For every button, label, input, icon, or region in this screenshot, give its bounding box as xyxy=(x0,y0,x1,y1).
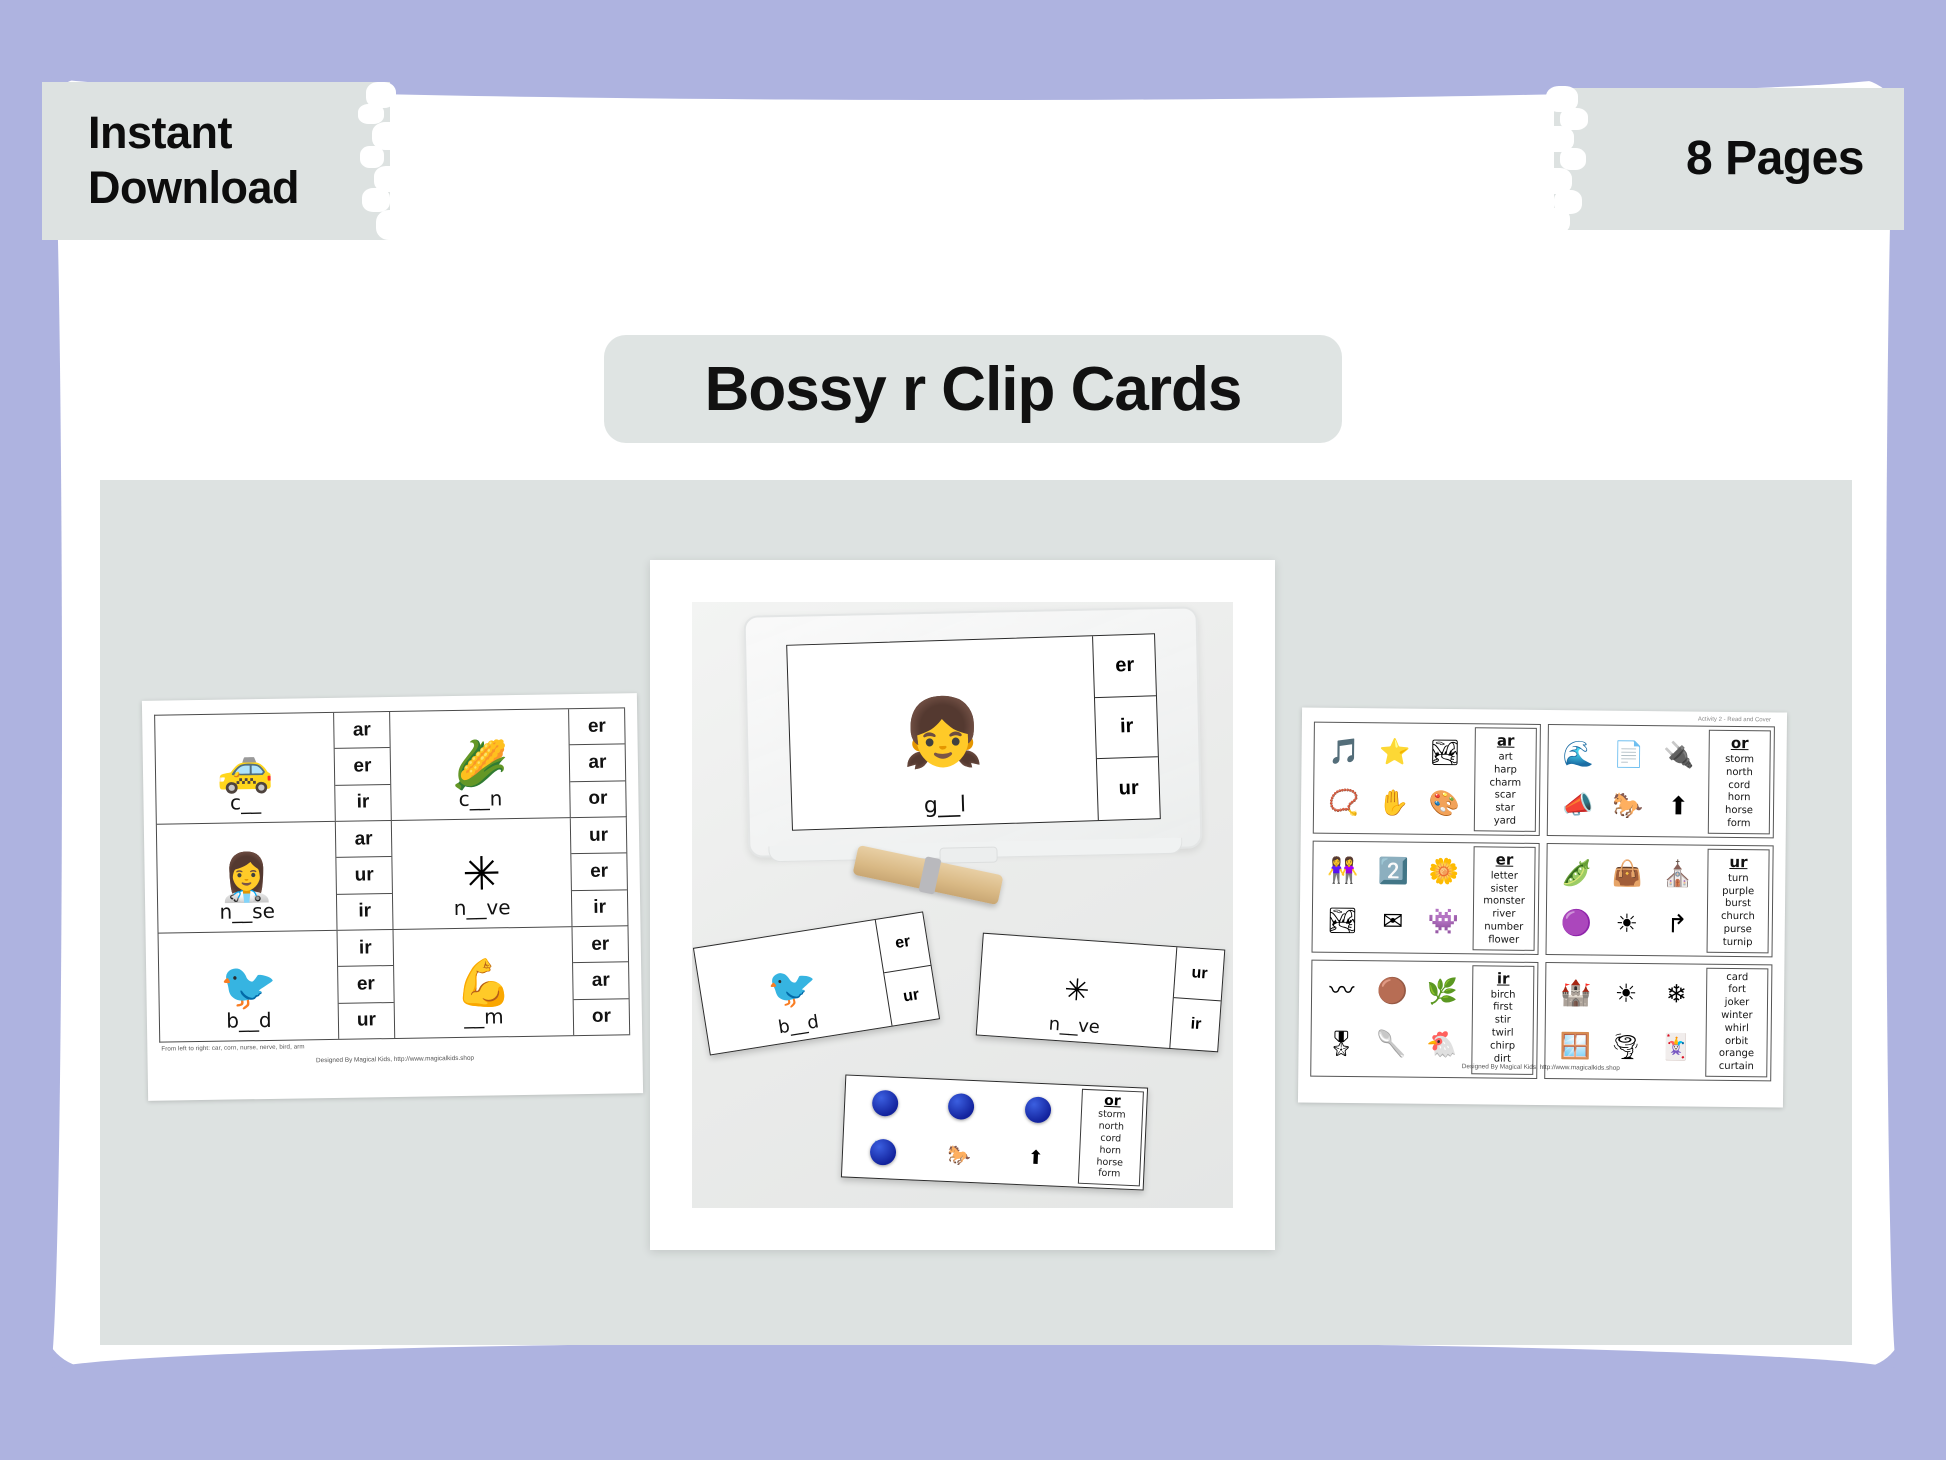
clip-card-option[interactable]: ir xyxy=(572,890,628,926)
read-cover-images: 🌊📄🔌📣🐎⬆ xyxy=(1551,728,1706,833)
read-cover-images: 🏰☀❄🪟🌪🃏 xyxy=(1548,966,1703,1077)
poster-canvas: Instant Download 8 Pages Bossy r Clip Ca… xyxy=(0,0,1946,1460)
loose-card-nerve: ✳ n__ve urir xyxy=(975,933,1225,1053)
arm-icon: 💪 xyxy=(454,955,512,1011)
word-item: joker xyxy=(1725,997,1750,1010)
clip-card-cell: 🌽c__neraror xyxy=(390,708,627,821)
word-item: twirl xyxy=(1492,1027,1514,1040)
word-item: turn xyxy=(1728,873,1749,886)
picture-icon: 👾 xyxy=(1418,898,1468,948)
nerve-icon: ✳ xyxy=(1063,973,1091,1010)
page-title: Bossy r Clip Cards xyxy=(705,354,1242,425)
hummingbird-icon: 🐦 xyxy=(764,960,821,1014)
word-item: north xyxy=(1099,1120,1125,1133)
word-item: turnip xyxy=(1723,937,1753,950)
picture-icon: ⭐ xyxy=(1370,728,1420,778)
picture-icon: ✉ xyxy=(1368,897,1418,947)
blue-counter-chip xyxy=(1025,1096,1052,1123)
word-item: harp xyxy=(1494,764,1517,777)
plastic-storage-box: 👧 g__l erirur xyxy=(744,606,1203,858)
word-item: sister xyxy=(1490,883,1518,896)
clip-card-option: ur xyxy=(1097,758,1160,821)
clip-card-image: 👧 g__l xyxy=(787,637,1098,830)
word-item: form xyxy=(1727,818,1750,831)
clip-card-option[interactable]: ar xyxy=(570,745,626,782)
picture-icon: 📣 xyxy=(923,1081,1001,1133)
word-item: whirl xyxy=(1725,1023,1749,1036)
picture-icon: ⬆ xyxy=(997,1132,1075,1184)
clip-card-in-box: 👧 g__l erirur xyxy=(786,634,1161,831)
sound-heading: ar xyxy=(1497,732,1515,750)
hummingbird-icon: 🐦 xyxy=(219,958,277,1014)
wave-edge-left xyxy=(38,78,62,1368)
word-item: chirp xyxy=(1490,1040,1515,1053)
clip-card-word: c__ xyxy=(156,789,334,816)
read-cover-images: 🎵⭐🏞📿✋🎨 xyxy=(1317,726,1472,831)
picture-icon: 〰 xyxy=(1317,965,1367,1018)
or-word-card: 🌊📣🔌📄🐎⬆ orstormnorthcordhornhorseform xyxy=(841,1074,1148,1190)
word-item: scar xyxy=(1495,790,1516,803)
clip-card-option[interactable]: ir xyxy=(338,930,394,967)
clip-card-options: erirur xyxy=(1092,635,1160,821)
picture-icon: 🟤 xyxy=(1367,966,1417,1019)
picture-icon: ☀ xyxy=(1602,900,1652,950)
clip-card-option[interactable]: ir xyxy=(337,894,393,930)
wave-edge-right xyxy=(1886,78,1908,1368)
word-item: river xyxy=(1492,909,1515,922)
loose-card-image: 🐦 b__d xyxy=(694,920,891,1054)
clip-card-word: n__ve xyxy=(393,894,571,921)
clip-card-picture: 🐦b__d xyxy=(159,931,339,1042)
loose-card-bird: 🐦 b__d erur xyxy=(693,912,940,1056)
word-item: star xyxy=(1495,803,1515,816)
word-item: first xyxy=(1493,1002,1513,1015)
clip-card-option[interactable]: er xyxy=(335,748,391,785)
picture-icon: 📿 xyxy=(1319,778,1369,828)
clip-card-option[interactable]: ur xyxy=(339,1003,395,1039)
read-cover-cell: 〰🟤🌿🎖🥄🐔irbirchfirststirtwirlchirpdirt xyxy=(1310,959,1538,1079)
sound-heading: ir xyxy=(1497,969,1510,987)
word-item: horse xyxy=(1097,1156,1124,1169)
picture-icon: ⬆ xyxy=(1653,782,1703,832)
picture-icon: 🌼 xyxy=(1419,847,1469,897)
clip-card-options: eraror xyxy=(568,708,626,817)
worksheet-preview-left[interactable]: 🚕c__arerir🌽c__neraror👩‍⚕️n__searurir✳n__… xyxy=(142,693,643,1101)
clip-card-cell: 💪__meraror xyxy=(394,926,631,1038)
word-item: monster xyxy=(1483,896,1525,909)
torn-edge-left xyxy=(1528,88,1580,230)
word-item: stir xyxy=(1495,1015,1511,1028)
blue-counter-chip xyxy=(872,1090,899,1117)
clip-card-option[interactable]: er xyxy=(569,708,625,745)
picture-icon: ✋ xyxy=(1369,779,1419,829)
wave-edge-bottom xyxy=(42,1342,1904,1372)
clip-card-option[interactable]: ur xyxy=(336,857,392,894)
word-item: birch xyxy=(1491,989,1516,1002)
clip-card-word: c__n xyxy=(391,785,569,812)
sound-heading: or xyxy=(1104,1092,1121,1109)
picture-icon: 📣 xyxy=(1553,780,1603,830)
picture-icon: 🌊 xyxy=(1553,730,1603,780)
clip-card-option[interactable]: ir xyxy=(335,785,391,821)
word-item: orange xyxy=(1719,1048,1754,1061)
picture-icon: 🐎 xyxy=(1603,781,1653,831)
clip-card-word: b__d xyxy=(160,1007,338,1034)
box-clasp xyxy=(940,847,998,864)
word-item: storm xyxy=(1098,1108,1126,1121)
picture-icon: 🏞 xyxy=(1318,897,1368,947)
clip-card-option: er xyxy=(1093,635,1156,699)
word-item: cord xyxy=(1728,780,1750,793)
word-item: orbit xyxy=(1725,1035,1748,1048)
word-item: flower xyxy=(1488,934,1519,947)
picture-icon: 2️⃣ xyxy=(1368,847,1418,897)
word-item: church xyxy=(1721,911,1755,924)
torn-edge-right xyxy=(364,82,416,240)
word-item: charm xyxy=(1489,777,1521,790)
word-list: urturnpurpleburstchurchpurseturnip xyxy=(1707,849,1770,953)
clip-card-word: n__se xyxy=(158,898,336,925)
clip-card-option[interactable]: or xyxy=(574,999,630,1035)
clip-card-option: ir xyxy=(1095,696,1158,760)
read-cover-cell: 🫛👜⛪🟣☀↱urturnpurpleburstchurchpurseturnip xyxy=(1546,843,1774,957)
clip-card-cell: 👩‍⚕️n__searurir xyxy=(157,821,394,934)
clip-card-word: __m xyxy=(395,1003,573,1030)
word-item: cord xyxy=(1101,1132,1122,1145)
read-cover-cell: 👭2️⃣🌼🏞✉👾erlettersistermonsterrivernumber… xyxy=(1312,840,1540,954)
picture-icon: 📄 xyxy=(844,1126,922,1178)
word-item: burst xyxy=(1725,898,1751,911)
word-list: cardfortjokerwinterwhirlorbitorangecurta… xyxy=(1705,967,1768,1077)
product-photo-frame[interactable]: 👧 g__l erirur 🐦 b__d erur ✳ xyxy=(650,560,1275,1250)
picture-icon: 🔌 xyxy=(1654,731,1704,781)
word-list: orstormnorthcordhornhorseform xyxy=(1708,730,1771,834)
clip-card-word: g__l xyxy=(792,788,1098,823)
sound-heading: or xyxy=(1731,734,1749,752)
word-item: form xyxy=(1098,1168,1121,1181)
picture-icon: 🟣 xyxy=(1552,899,1602,949)
taxi-icon: 🚕 xyxy=(216,740,274,796)
loose-card-image: ✳ n__ve xyxy=(976,934,1176,1048)
picture-icon: 🐎 xyxy=(921,1129,999,1181)
word-item: horn xyxy=(1100,1144,1122,1157)
clip-card-options: urerir xyxy=(570,817,628,926)
clip-card-option[interactable]: ar xyxy=(336,821,392,858)
picture-icon: 📄 xyxy=(1604,731,1654,781)
clip-card-cell: 🐦b__direrur xyxy=(159,930,396,1042)
word-list: arartharpcharmscarstaryard xyxy=(1474,727,1537,831)
word-item: fort xyxy=(1728,984,1746,997)
sound-heading: ur xyxy=(1729,853,1747,871)
word-list: irbirchfirststirtwirlchirpdirt xyxy=(1471,965,1534,1075)
clip-card-options: arerir xyxy=(333,712,391,821)
read-cover-images: 🫛👜⛪🟣☀↱ xyxy=(1550,847,1705,952)
clip-card-cell: 🚕c__arerir xyxy=(155,712,392,825)
word-item: art xyxy=(1498,752,1512,765)
word-item: letter xyxy=(1491,870,1518,883)
clip-card-options: arurir xyxy=(335,821,393,930)
loose-card-options: urir xyxy=(1169,948,1224,1052)
clip-card-options: irerur xyxy=(337,930,395,1039)
worksheet-preview-right[interactable]: Activity 2 - Read and Cover 🎵⭐🏞📿✋🎨ararth… xyxy=(1298,707,1787,1107)
picture-icon: 🫛 xyxy=(1552,849,1602,899)
clip-card-option[interactable]: ar xyxy=(573,963,629,1000)
instant-download-badge: Instant Download xyxy=(42,82,390,240)
word-item: horn xyxy=(1728,792,1751,805)
clip-card-option: ir xyxy=(1170,999,1220,1052)
worksheet-left-credit: Designed By Magical Kids, http://www.mag… xyxy=(160,1052,631,1066)
picture-icon: 👭 xyxy=(1318,846,1368,896)
clip-card-picture: 👩‍⚕️n__se xyxy=(157,822,337,933)
clip-card-picture: 💪__m xyxy=(394,927,574,1038)
blue-counter-chip xyxy=(948,1093,975,1120)
clip-card-option[interactable]: ur xyxy=(571,817,627,854)
picture-icon: 👜 xyxy=(1602,849,1652,899)
clip-card-picture: 🌽c__n xyxy=(390,709,570,820)
instant-download-label: Instant Download xyxy=(88,106,299,216)
clip-card-cell: ✳n__veurerir xyxy=(392,817,629,930)
word-item: yard xyxy=(1494,815,1516,828)
clip-card-option: ur xyxy=(884,966,939,1026)
clip-card-grid: 🚕c__arerir🌽c__neraror👩‍⚕️n__searurir✳n__… xyxy=(154,707,630,1042)
page-count-label: 8 Pages xyxy=(1686,130,1864,189)
picture-icon: 🎵 xyxy=(1319,728,1369,778)
word-item: purple xyxy=(1722,885,1754,898)
clip-card-option[interactable]: er xyxy=(338,966,394,1003)
loose-card-word: n__ve xyxy=(977,1009,1171,1043)
nerve-icon: ✳ xyxy=(462,846,501,901)
clip-card-options: eraror xyxy=(571,926,629,1035)
picture-icon: 🌊 xyxy=(847,1077,925,1129)
clip-card-picture: 🚕c__ xyxy=(155,713,335,824)
or-card-word-list: orstormnorthcordhornhorseform xyxy=(1078,1089,1144,1187)
word-item: horse xyxy=(1725,805,1753,818)
worksheet-right-header: Activity 2 - Read and Cover xyxy=(1698,717,1771,724)
nurse-icon: 👩‍⚕️ xyxy=(218,849,276,905)
read-cover-cell: 🎵⭐🏞📿✋🎨arartharpcharmscarstaryard xyxy=(1313,722,1541,836)
blue-counter-chip xyxy=(870,1138,897,1165)
clip-card-option[interactable]: or xyxy=(570,781,626,817)
word-list: erlettersistermonsterrivernumberflower xyxy=(1473,846,1536,950)
title-pill: Bossy r Clip Cards xyxy=(604,335,1342,443)
word-item: purse xyxy=(1724,924,1752,937)
page-count-badge: 8 Pages xyxy=(1554,88,1904,230)
read-and-cover-grid: 🎵⭐🏞📿✋🎨arartharpcharmscarstaryard🌊📄🔌📣🐎⬆or… xyxy=(1310,722,1774,1057)
word-item: number xyxy=(1484,921,1523,934)
read-cover-images: 〰🟤🌿🎖🥄🐔 xyxy=(1314,963,1469,1074)
word-item: storm xyxy=(1725,754,1754,767)
read-cover-cell: 🏰☀❄🪟🌪🃏cardfortjokerwinterwhirlorbitorang… xyxy=(1544,962,1772,1082)
read-cover-images: 👭2️⃣🌼🏞✉👾 xyxy=(1316,844,1471,949)
or-card-images: 🌊📣🔌📄🐎⬆ xyxy=(842,1075,1079,1186)
product-photo: 👧 g__l erirur 🐦 b__d erur ✳ xyxy=(692,602,1233,1208)
picture-icon: 🏰 xyxy=(1551,968,1601,1021)
picture-icon: 🏞 xyxy=(1420,729,1470,779)
picture-icon: ⛪ xyxy=(1653,850,1703,900)
worksheet-left-footnote: From left to right: car, corn, nurse, ne… xyxy=(161,1043,304,1052)
clip-card-option: er xyxy=(876,913,931,974)
clip-card-option[interactable]: er xyxy=(571,854,627,891)
clip-card-option: ur xyxy=(1174,948,1224,1002)
picture-icon: 🎨 xyxy=(1419,779,1469,829)
sound-heading: er xyxy=(1496,850,1514,868)
picture-icon: ↱ xyxy=(1652,900,1702,950)
clip-card-option[interactable]: ar xyxy=(334,712,390,749)
picture-icon: 🔌 xyxy=(999,1084,1077,1136)
word-item: winter xyxy=(1721,1010,1753,1023)
clip-card-picture: ✳n__ve xyxy=(392,818,572,929)
corn-icon: 🌽 xyxy=(451,737,509,793)
clip-card-option[interactable]: er xyxy=(572,926,628,963)
picture-icon: ☀ xyxy=(1601,968,1651,1021)
girl-icon: 👧 xyxy=(900,693,985,774)
picture-icon: 🌿 xyxy=(1417,966,1467,1019)
word-item: card xyxy=(1726,971,1748,984)
word-item: north xyxy=(1726,767,1753,780)
read-cover-cell: 🌊📄🔌📣🐎⬆orstormnorthcordhornhorseform xyxy=(1547,724,1775,838)
picture-icon: ❄ xyxy=(1651,969,1701,1022)
